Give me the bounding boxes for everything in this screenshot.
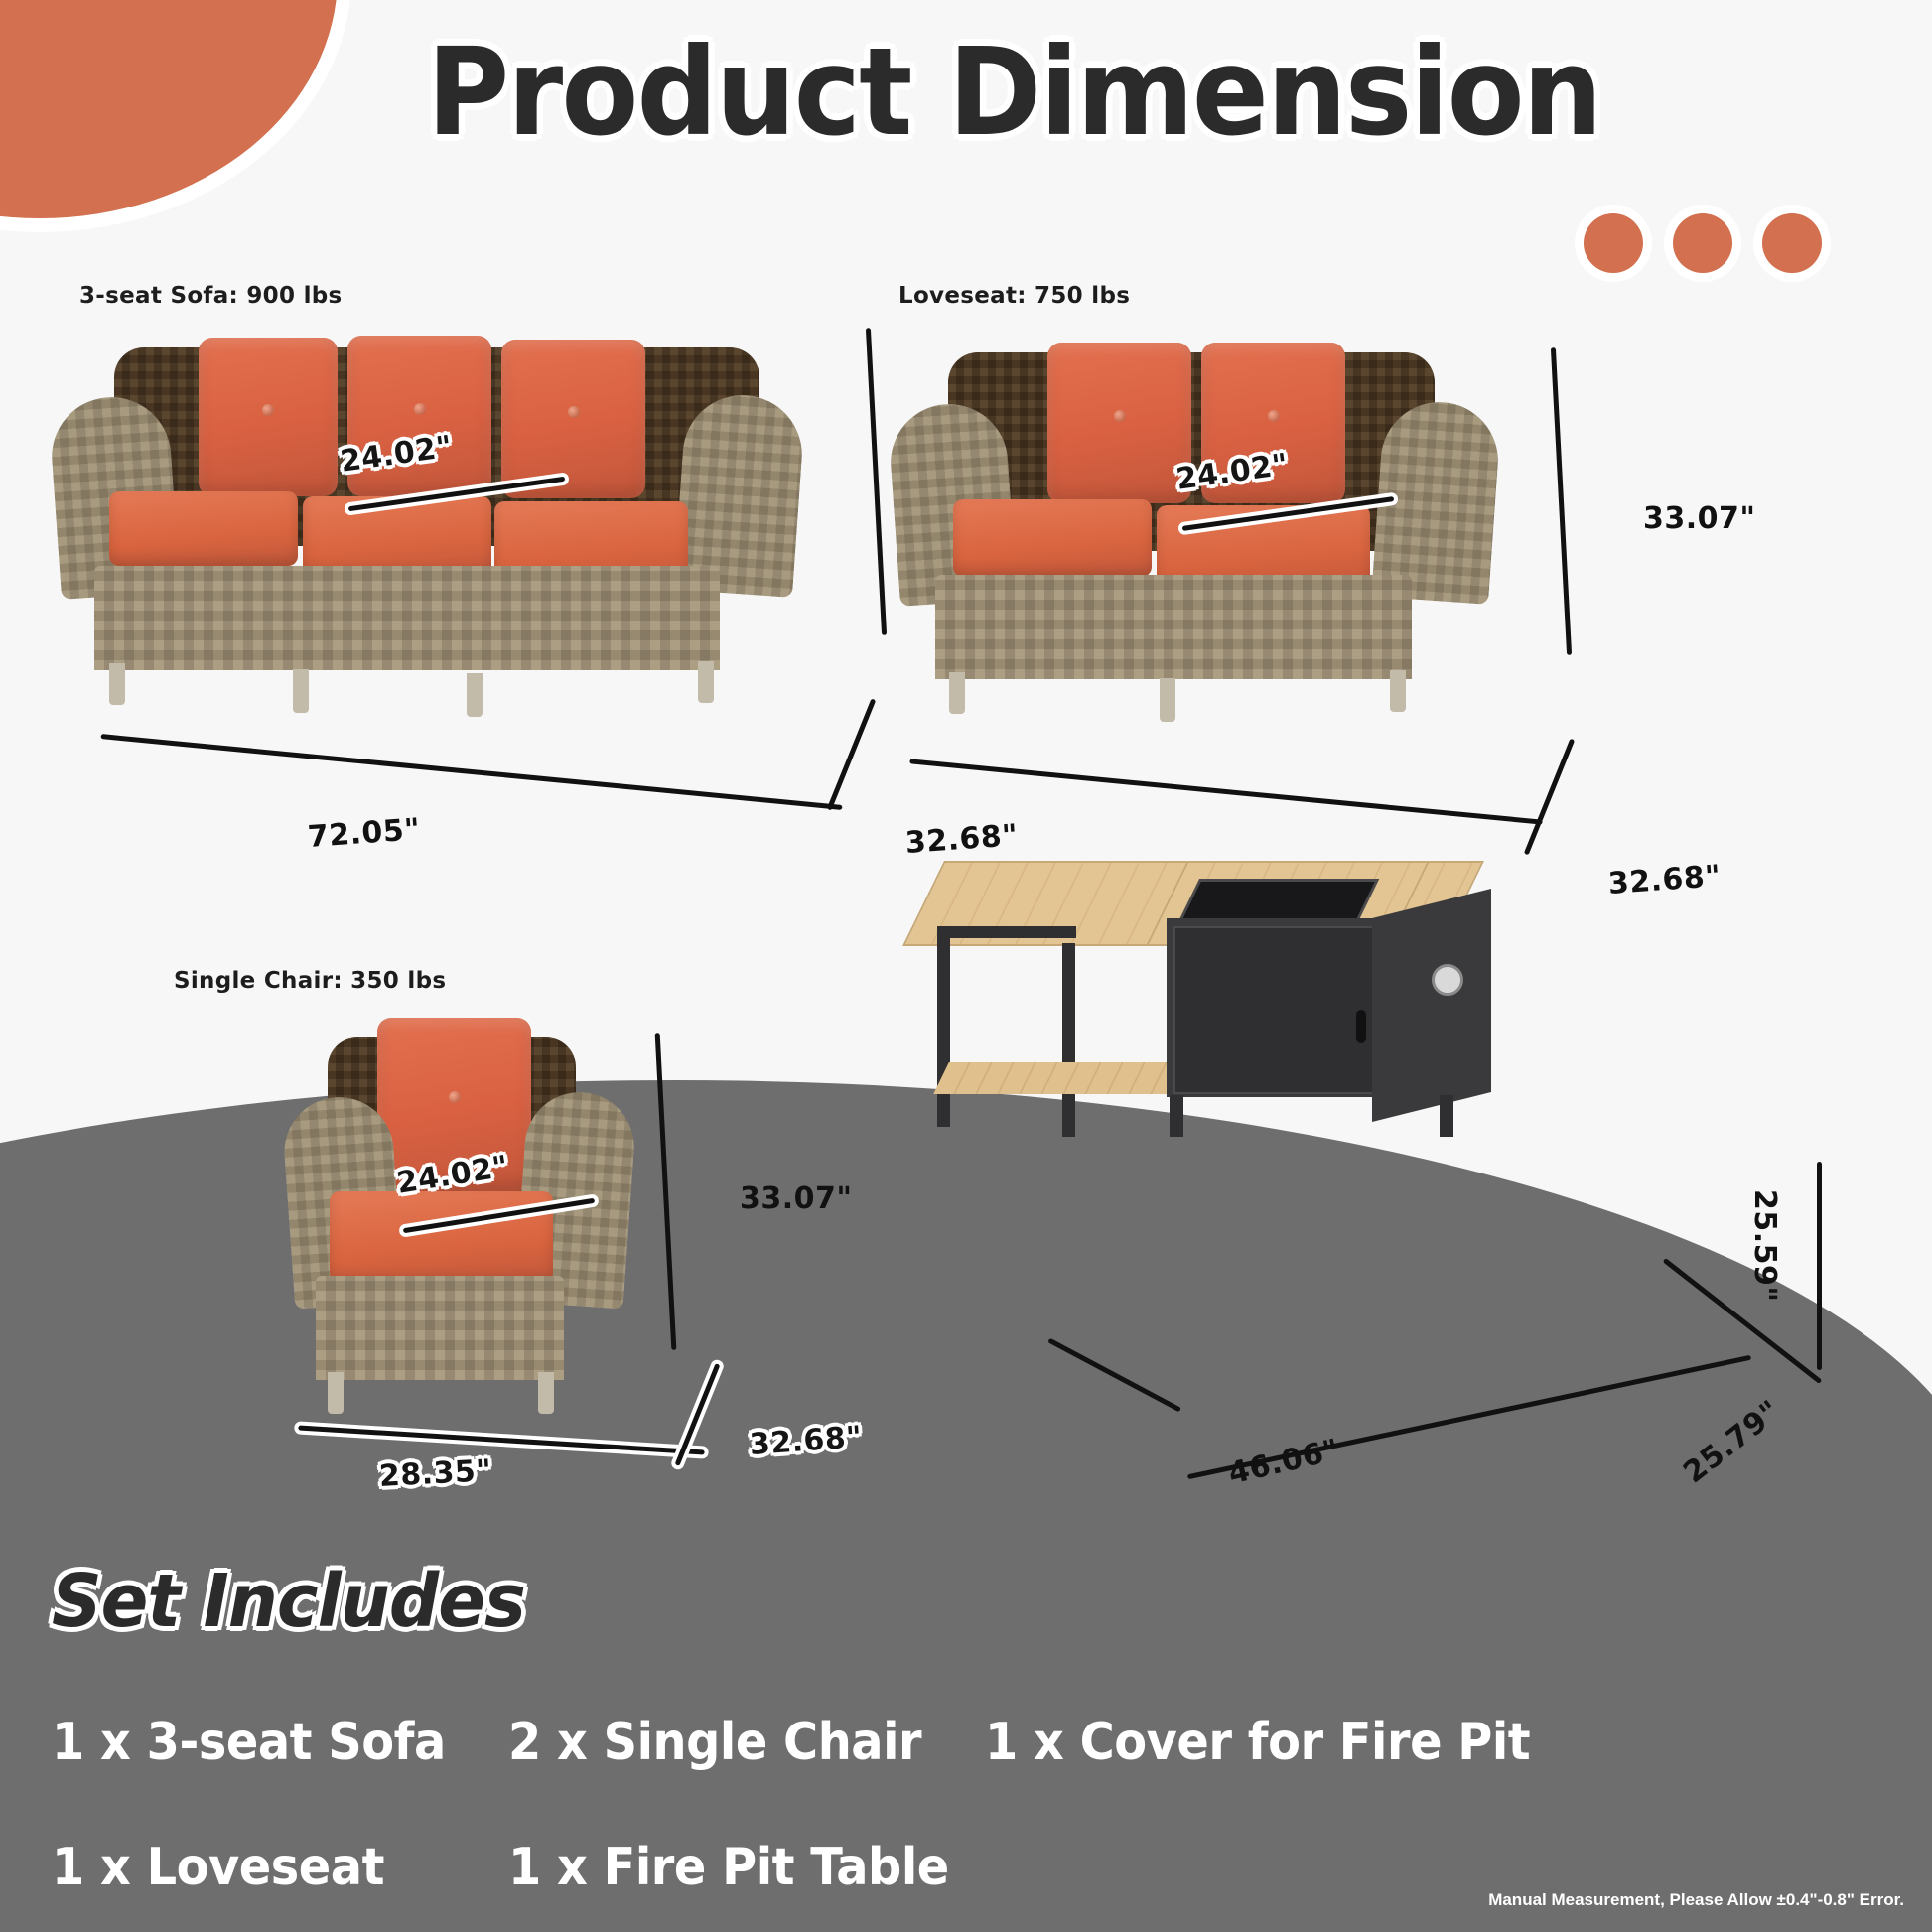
page-title: Product Dimension (427, 22, 1601, 163)
dot-icon (1584, 213, 1643, 273)
list-item: 1 x Loveseat (52, 1838, 472, 1897)
product-dimension-infographic: Product Dimension 3-seat Sofa: 900 lbs 2… (0, 0, 1932, 1932)
set-includes-list: 1 x 3-seat Sofa 2 x Single Chair 1 x Cov… (52, 1713, 1868, 1897)
loveseat-width-line (909, 759, 1543, 824)
firepit-height-label: 25.59" (1747, 1189, 1782, 1303)
sofa-height-line (866, 328, 887, 635)
set-includes-heading: Set Includes (52, 1559, 525, 1644)
loveseat-depth-line (1524, 739, 1575, 856)
product-panel-loveseat: Loveseat: 750 lbs (898, 283, 1130, 309)
list-item-empty (985, 1838, 1798, 1897)
firepit-height-line (1817, 1162, 1822, 1370)
chair-height-label: 33.07" (740, 1181, 853, 1216)
loveseat-height-label: 33.07" (1643, 501, 1756, 536)
product-panel-single-chair: Single Chair: 350 lbs (174, 968, 446, 994)
decorative-dots (1584, 213, 1822, 273)
list-item: 1 x Cover for Fire Pit (985, 1713, 1798, 1772)
list-item: 2 x Single Chair (508, 1713, 947, 1772)
control-knob-icon (1432, 964, 1463, 996)
dot-icon (1762, 213, 1822, 273)
loveseat-height-line (1551, 347, 1572, 655)
three-seat-sofa-label: 3-seat Sofa: 900 lbs (79, 283, 343, 309)
dot-icon (1673, 213, 1732, 273)
loveseat-illustration (894, 333, 1509, 690)
chair-width-label: 28.35" (378, 1453, 492, 1494)
fire-pit-table-illustration (913, 849, 1668, 1167)
sofa-width-line (100, 734, 842, 810)
list-item: 1 x Fire Pit Table (508, 1838, 947, 1897)
cabinet-handle (1356, 1010, 1366, 1043)
single-chair-label: Single Chair: 350 lbs (174, 968, 446, 994)
single-chair-illustration (288, 1003, 635, 1380)
product-panel-three-seat-sofa: 3-seat Sofa: 900 lbs (79, 283, 343, 309)
three-seat-sofa-illustration (55, 328, 809, 685)
measurement-disclaimer: Manual Measurement, Please Allow ±0.4"-0… (1488, 1890, 1904, 1910)
orange-blob-decoration (0, 0, 338, 218)
sofa-depth-line (827, 698, 877, 810)
list-item: 1 x 3-seat Sofa (52, 1713, 472, 1772)
loveseat-label: Loveseat: 750 lbs (898, 283, 1130, 309)
sofa-width-label: 72.05" (307, 812, 422, 855)
